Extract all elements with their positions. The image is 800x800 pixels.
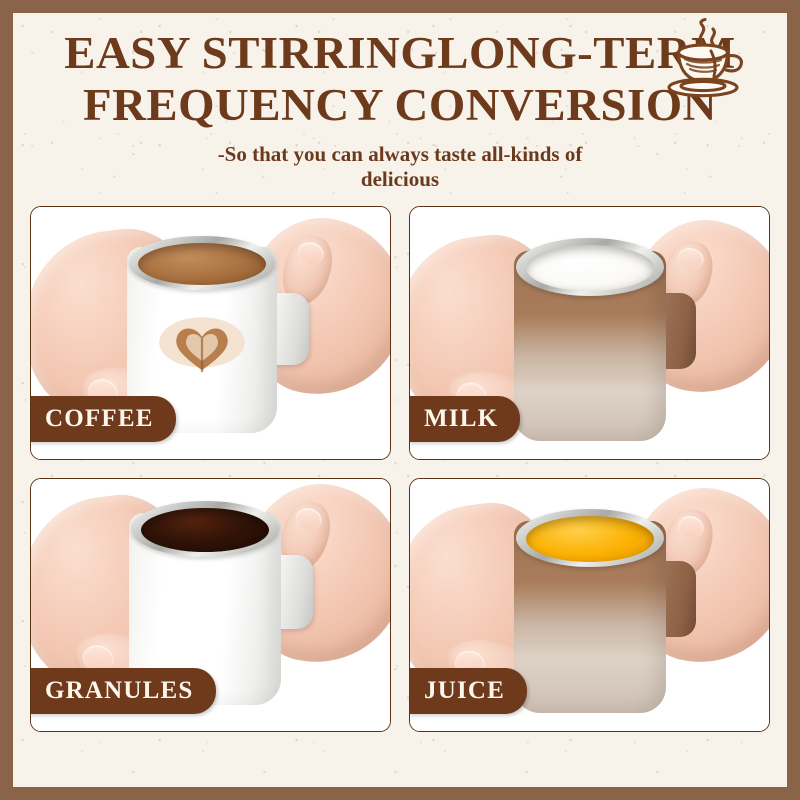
panel-coffee[interactable]: COFFEE — [30, 206, 391, 460]
product-usage-grid: COFFEE — [30, 206, 770, 732]
mug-liquid-milk — [526, 245, 654, 291]
self-stirring-mug-milk — [514, 251, 666, 441]
mug-liquid-coffee — [138, 243, 266, 285]
banner-header: EASY STIRRINGLONG-TERM FREQUENCY CONVERS… — [13, 13, 787, 192]
banner-paper-background: EASY STIRRINGLONG-TERM FREQUENCY CONVERS… — [13, 13, 787, 787]
panel-granules[interactable]: GRANULES — [30, 478, 391, 732]
self-stirring-mug-juice — [514, 521, 666, 713]
panel-milk[interactable]: MILK — [409, 206, 770, 460]
panel-juice[interactable]: JUICE — [409, 478, 770, 732]
panel-label-juice: JUICE — [409, 668, 527, 714]
latte-art-heart-icon — [156, 290, 249, 405]
panel-label-milk: MILK — [409, 396, 520, 442]
mug-liquid-granules — [141, 508, 269, 552]
steaming-coffee-cup-icon — [658, 18, 754, 104]
mug-liquid-juice — [526, 516, 654, 562]
page-subtitle: -So that you can always taste all-kinds … — [180, 142, 620, 192]
panel-label-coffee: COFFEE — [30, 396, 176, 442]
panel-label-granules: GRANULES — [30, 668, 216, 714]
product-banner: EASY STIRRINGLONG-TERM FREQUENCY CONVERS… — [0, 0, 800, 800]
